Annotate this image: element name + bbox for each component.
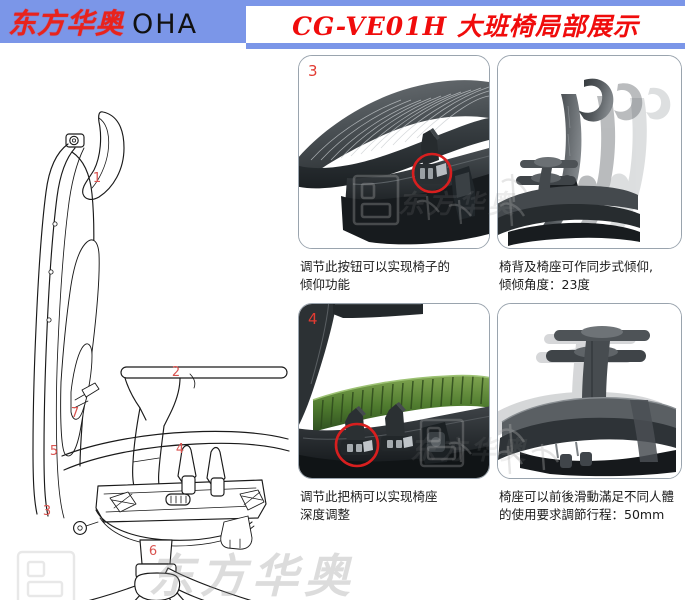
photo-seat-slide[interactable]	[497, 303, 682, 479]
caption-seat-depth-handle: 调节此把柄可以实现椅座 深度调整	[300, 488, 488, 524]
header-blue-underline-band	[246, 43, 685, 49]
photo-tilt-button[interactable]: 3	[298, 55, 490, 249]
photo-synchronous-tilt[interactable]	[497, 55, 682, 249]
panel-seat-depth-handle: 4	[298, 303, 490, 479]
chair-line-diagram: 1 2 3 4 5 6 7	[0, 52, 290, 600]
panel-synchronous-tilt	[497, 55, 682, 249]
header-band-left-spacer	[0, 43, 246, 49]
brand-logo-chinese: 东方华奥	[8, 10, 124, 38]
brand-logo-latin: OHA	[132, 11, 198, 38]
panel-number-4: 4	[308, 310, 318, 328]
chair-diagram-svg	[0, 52, 290, 600]
photo-seat-depth-handle-image	[299, 304, 489, 478]
panel-tilt-button: 3	[298, 55, 490, 249]
photo-seat-depth-handle[interactable]: 4	[298, 303, 490, 479]
caption-seat-slide: 椅座可以前後滑動滿足不同人體 的使用要求調節行程：50mm	[499, 488, 685, 524]
photo-seat-slide-image	[498, 304, 681, 478]
panel-number-3: 3	[308, 62, 318, 80]
page-title: CG-VE01H 大班椅局部展示	[246, 6, 685, 43]
panel-seat-slide	[497, 303, 682, 479]
caption-synchronous-tilt: 椅背及椅座可作同步式倾仰, 倾倾角度：23度	[499, 258, 685, 294]
caption-tilt-button: 调节此按钮可以实现椅子的 倾仰功能	[300, 258, 488, 294]
page-header: 东方华奥 OHA CG-VE01H 大班椅局部展示	[0, 0, 685, 48]
product-detail-page: 东方华奥 OHA CG-VE01H 大班椅局部展示	[0, 0, 685, 600]
photo-tilt-button-image	[299, 56, 489, 248]
photo-synchronous-tilt-image	[498, 56, 681, 248]
brand-logo: 东方华奥 OHA	[8, 5, 243, 43]
